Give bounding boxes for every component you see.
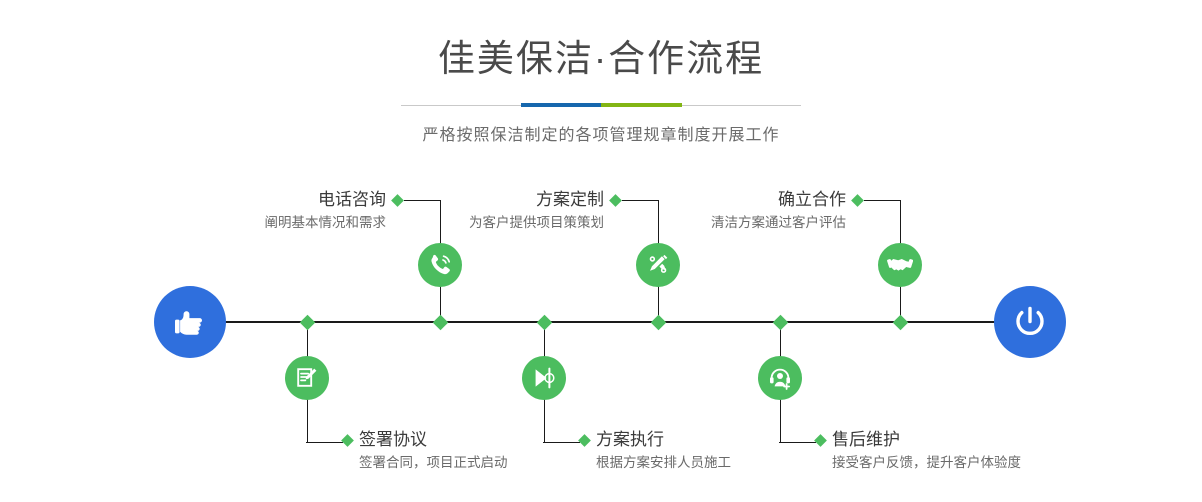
step-icon-plan-execute[interactable] <box>522 356 566 400</box>
step-title: 电话咨询 <box>318 190 386 210</box>
step-desc: 签署合同，项目正式启动 <box>343 454 603 472</box>
step-label-after-sales: 售后维护 接受客户反馈，提升客户体验度 <box>816 430 1096 472</box>
document-sign-icon <box>294 365 320 391</box>
label-dot-icon <box>851 194 864 207</box>
step-icon-sign-agreement[interactable] <box>285 356 329 400</box>
connector-horizontal <box>306 442 343 443</box>
timeline-marker <box>299 314 315 330</box>
flow-end-badge <box>994 286 1066 358</box>
connector-vertical <box>307 399 308 443</box>
timeline-marker <box>772 314 788 330</box>
step-desc: 根据方案安排人员施工 <box>580 454 830 472</box>
customer-service-add-icon <box>767 365 793 391</box>
step-icon-establish-cooperation[interactable] <box>878 243 922 287</box>
timeline-marker <box>432 314 448 330</box>
step-title: 售后维护 <box>832 430 900 450</box>
step-title: 确立合作 <box>778 190 846 210</box>
timeline-marker <box>892 314 908 330</box>
step-label-sign-agreement: 签署协议 签署合同，项目正式启动 <box>343 430 603 472</box>
pencil-ruler-icon <box>645 252 671 278</box>
connector-horizontal <box>864 200 900 201</box>
label-dot-icon <box>341 434 354 447</box>
step-desc: 清洁方案通过客户评估 <box>620 214 862 232</box>
step-title: 方案执行 <box>596 430 664 450</box>
label-dot-icon <box>814 434 827 447</box>
handshake-icon <box>887 252 913 278</box>
timeline-marker <box>536 314 552 330</box>
power-icon <box>1009 301 1051 343</box>
step-desc: 阐明基本情况和需求 <box>170 214 402 232</box>
phone-call-icon <box>427 252 453 278</box>
step-desc: 为客户提供项目策策划 <box>390 214 620 232</box>
step-label-plan-execute: 方案执行 根据方案安排人员施工 <box>580 430 830 472</box>
step-icon-plan-design[interactable] <box>636 243 680 287</box>
flow-infographic-page: 佳美保洁·合作流程 严格按照保洁制定的各项管理规章制度开展工作 <box>0 0 1202 502</box>
step-label-plan-design: 方案定制 为客户提供项目策策划 <box>390 190 620 232</box>
play-execute-icon <box>531 365 557 391</box>
step-icon-after-sales[interactable] <box>758 356 802 400</box>
process-flow: 电话咨询 阐明基本情况和需求 签署协议 <box>0 0 1202 502</box>
step-title: 方案定制 <box>536 190 604 210</box>
step-desc: 接受客户反馈，提升客户体验度 <box>816 454 1096 472</box>
step-label-establish-cooperation: 确立合作 清洁方案通过客户评估 <box>620 190 862 232</box>
timeline-marker <box>650 314 666 330</box>
step-icon-phone-consult[interactable] <box>418 243 462 287</box>
step-label-phone-consult: 电话咨询 阐明基本情况和需求 <box>170 190 402 232</box>
pointing-hand-icon <box>170 302 210 342</box>
flow-start-badge <box>154 286 226 358</box>
label-dot-icon <box>578 434 591 447</box>
connector-vertical <box>900 200 901 244</box>
step-title: 签署协议 <box>359 430 427 450</box>
